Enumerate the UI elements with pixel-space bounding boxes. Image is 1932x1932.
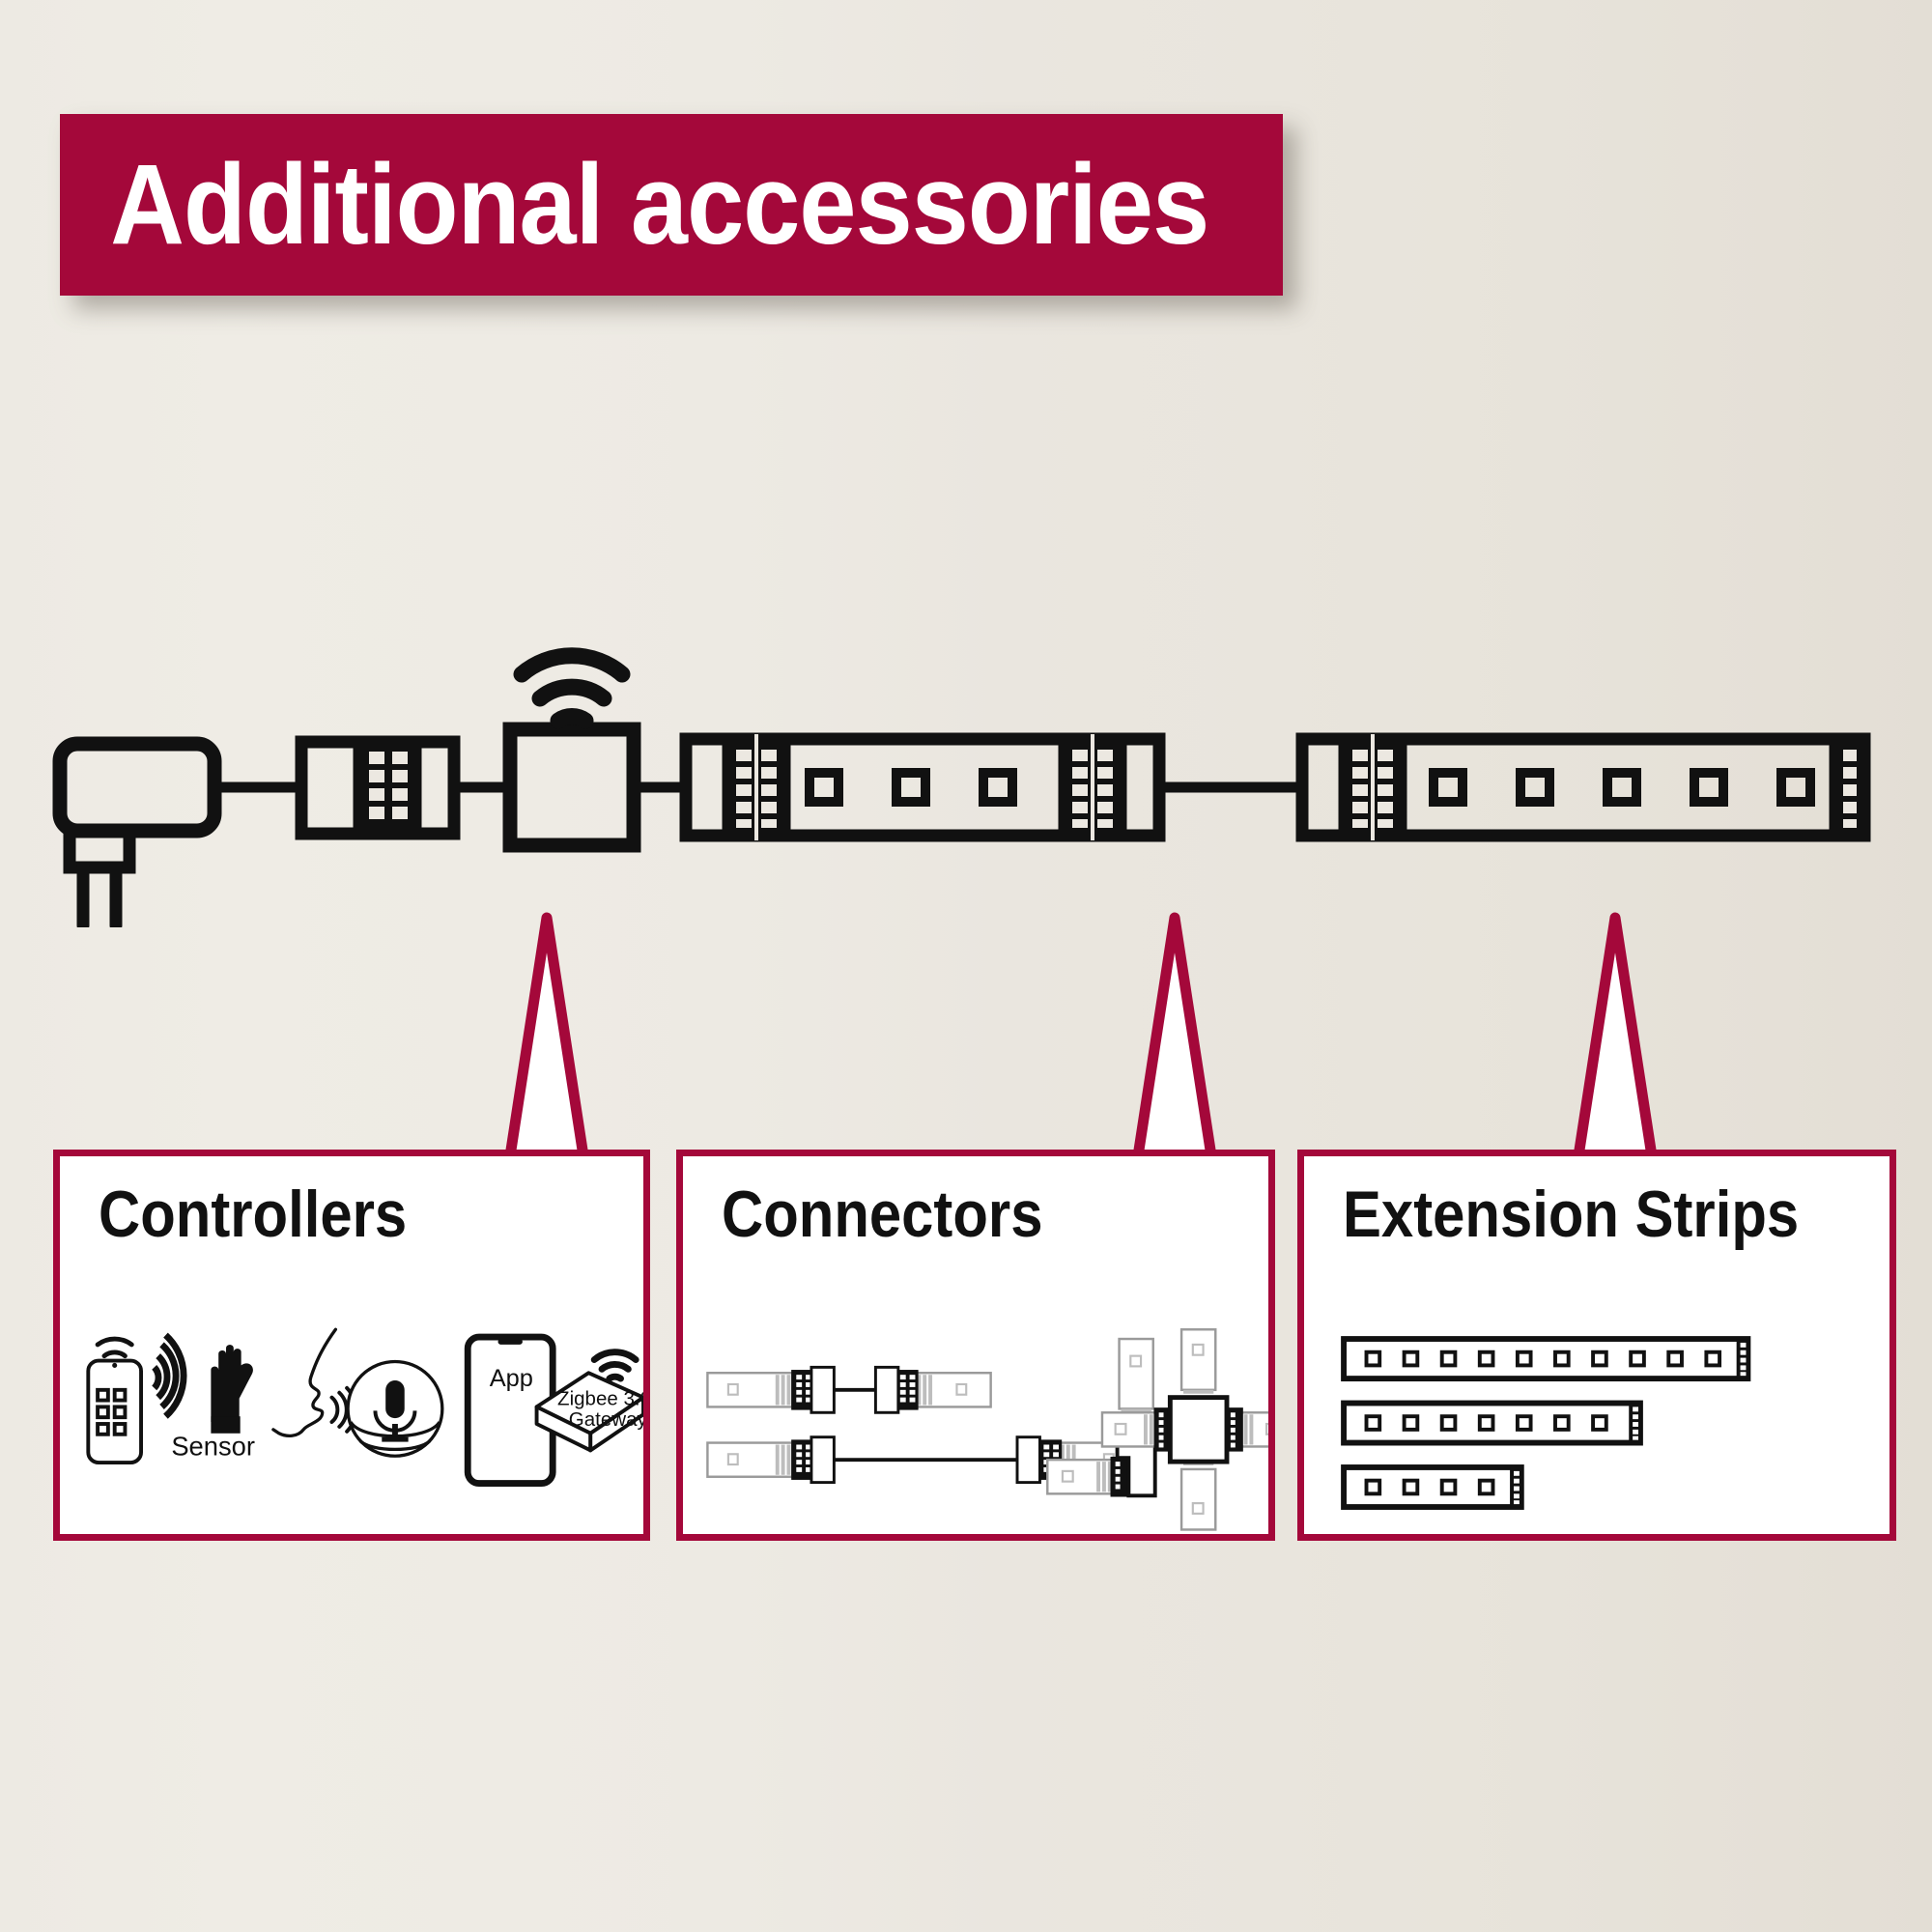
led-strip-medium-icon	[1344, 1404, 1642, 1443]
led-strip-icon	[686, 734, 1159, 840]
callout-box-extension-strips[interactable]: Extension Strips	[1297, 1150, 1896, 1541]
gateway-label-line1: Zigbee 3.0	[557, 1387, 643, 1409]
voice-face-profile-icon	[273, 1329, 336, 1435]
gateway-wifi-icon	[594, 1352, 636, 1378]
led-strip-short-icon	[1344, 1467, 1523, 1507]
wireless-controller-icon	[510, 729, 634, 845]
box-title-connectors: Connectors	[722, 1180, 1042, 1249]
gateway-label-line2: Gateway	[569, 1408, 643, 1431]
page-title: Additional accessories	[60, 148, 1208, 262]
short-cable-connector-icon	[707, 1367, 990, 1412]
led-strip-system-diagram	[0, 638, 1932, 927]
page-background: Additional accessories	[0, 0, 1932, 1932]
pointer-controllers	[510, 918, 583, 1156]
phone-notch-icon	[497, 1339, 522, 1345]
box-title-controllers: Controllers	[99, 1180, 407, 1249]
title-banner: Additional accessories	[60, 114, 1283, 296]
callout-box-connectors[interactable]: Connectors	[676, 1150, 1275, 1541]
sensor-label: Sensor	[171, 1431, 255, 1461]
pointer-connectors	[1138, 918, 1211, 1156]
remote-control-icon	[88, 1339, 141, 1463]
controllers-icon-group: Sensor	[60, 1316, 643, 1533]
wifi-icon	[522, 656, 622, 721]
hand-icon	[211, 1345, 253, 1434]
extension-strips-icon-group	[1304, 1316, 1889, 1533]
led-strip-long-icon	[1344, 1339, 1749, 1378]
box-title-extension-strips: Extension Strips	[1343, 1180, 1799, 1249]
connectors-icon-group	[683, 1316, 1268, 1533]
pointer-extensions	[1578, 918, 1652, 1156]
callout-box-controllers[interactable]: Controllers	[53, 1150, 650, 1541]
motion-sensor-waves-icon	[155, 1335, 184, 1416]
power-supply-plug-icon	[60, 744, 214, 925]
app-label: App	[490, 1365, 533, 1392]
strip-connector-icon	[301, 742, 454, 834]
led-strip-icon	[1302, 734, 1864, 840]
